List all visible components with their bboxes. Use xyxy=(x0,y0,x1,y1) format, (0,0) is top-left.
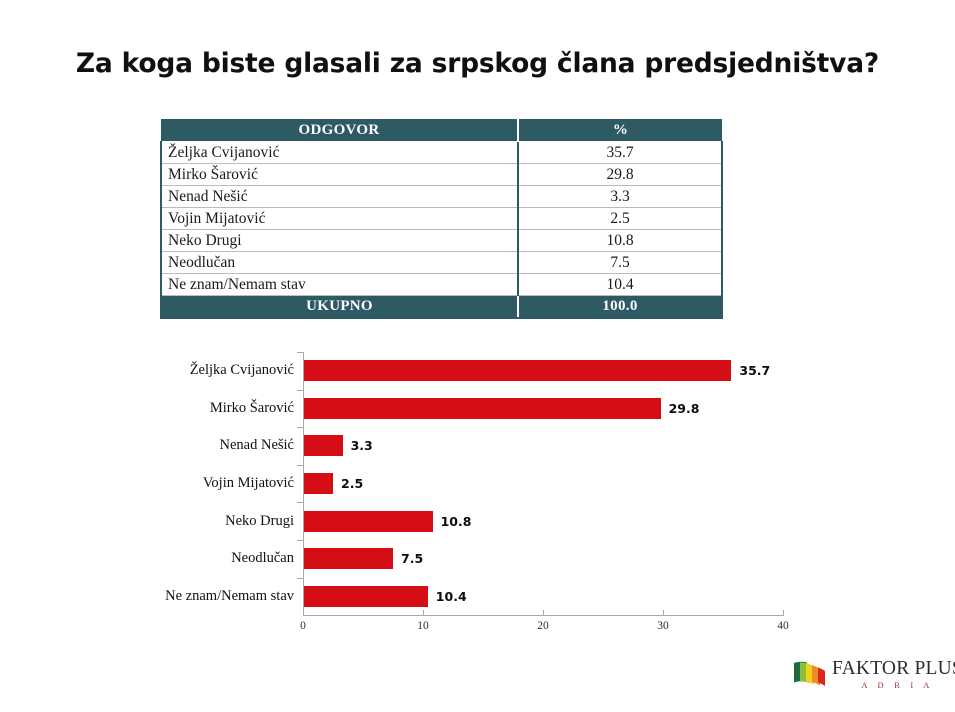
chart-category-label: Nenad Nešić xyxy=(110,437,303,454)
cell-answer: Željka Cvijanović xyxy=(161,142,518,164)
chart-bar-area: 7.5 xyxy=(303,540,810,578)
table-row: Nenad Nešić 3.3 xyxy=(161,186,722,208)
logo-flag-icon xyxy=(792,660,826,686)
y-axis-tick xyxy=(297,390,303,391)
x-axis-tick-label: 30 xyxy=(657,620,669,632)
cell-total-label: UKUPNO xyxy=(161,296,518,319)
chart-category-label: Vojin Mijatović xyxy=(110,475,303,492)
y-axis-tick xyxy=(297,578,303,579)
x-axis-tick xyxy=(423,610,424,616)
table-row: Neko Drugi 10.8 xyxy=(161,230,722,252)
y-axis-tick xyxy=(297,540,303,541)
chart-value-label: 29.8 xyxy=(669,401,700,416)
logo-name: FAKTOR PLUS xyxy=(832,659,955,679)
y-axis-tick xyxy=(297,502,303,503)
x-axis-tick-label: 40 xyxy=(777,620,789,632)
table-row: Mirko Šarović 29.8 xyxy=(161,164,722,186)
table-row: Vojin Mijatović 2.5 xyxy=(161,208,722,230)
chart-row: Ne znam/Nemam stav 10.4 xyxy=(110,578,810,616)
x-axis-tick xyxy=(303,610,304,616)
chart-row: Nenad Nešić 3.3 xyxy=(110,427,810,465)
chart-value-label: 10.8 xyxy=(441,514,472,529)
chart-row: Vojin Mijatović 2.5 xyxy=(110,465,810,503)
chart-bar-area: 10.4 xyxy=(303,578,810,616)
chart-category-label: Željka Cvijanović xyxy=(110,362,303,379)
chart-row: Mirko Šarović 29.8 xyxy=(110,390,810,428)
column-header-answer: ODGOVOR xyxy=(161,119,518,142)
chart-bar-area: 10.8 xyxy=(303,502,810,540)
chart-category-label: Ne znam/Nemam stav xyxy=(110,588,303,605)
y-axis-tick xyxy=(297,465,303,466)
chart-bar-area: 2.5 xyxy=(303,465,810,503)
y-axis-line xyxy=(303,352,304,615)
table-header: ODGOVOR % xyxy=(161,119,722,142)
x-axis-tick-label: 10 xyxy=(417,620,429,632)
chart-row: Neodlučan 7.5 xyxy=(110,540,810,578)
chart-bar-area: 35.7 xyxy=(303,352,810,390)
chart-bar xyxy=(303,511,433,532)
cell-answer: Mirko Šarović xyxy=(161,164,518,186)
column-header-percent: % xyxy=(518,119,722,142)
chart-bar-area: 3.3 xyxy=(303,427,810,465)
table-total-row: UKUPNO 100.0 xyxy=(161,296,722,319)
chart-value-label: 35.7 xyxy=(739,363,770,378)
chart-value-label: 10.4 xyxy=(436,589,467,604)
chart-category-label: Neodlučan xyxy=(110,550,303,567)
x-axis-tick xyxy=(543,610,544,616)
chart-bar xyxy=(303,398,661,419)
table-header-row: ODGOVOR % xyxy=(161,119,722,142)
table-row: Neodlučan 7.5 xyxy=(161,252,722,274)
logo-subtitle: A D R I A xyxy=(832,679,955,691)
table-body: Željka Cvijanović 35.7 Mirko Šarović 29.… xyxy=(161,142,722,319)
logo-text: FAKTOR PLUS A D R I A xyxy=(832,659,955,691)
chart-bar xyxy=(303,435,343,456)
chart-bar xyxy=(303,586,428,607)
chart-bar xyxy=(303,360,731,381)
cell-percent: 2.5 xyxy=(518,208,722,230)
chart-row: Željka Cvijanović 35.7 xyxy=(110,352,810,390)
chart-row: Neko Drugi 10.8 xyxy=(110,502,810,540)
cell-percent: 29.8 xyxy=(518,164,722,186)
chart-value-label: 2.5 xyxy=(341,476,363,491)
bar-chart: Željka Cvijanović 35.7 Mirko Šarović 29.… xyxy=(110,352,810,642)
table-row: Željka Cvijanović 35.7 xyxy=(161,142,722,164)
cell-percent: 3.3 xyxy=(518,186,722,208)
faktor-plus-logo: FAKTOR PLUS A D R I A xyxy=(792,659,947,699)
chart-value-label: 7.5 xyxy=(401,551,423,566)
x-axis-tick xyxy=(663,610,664,616)
cell-total-percent: 100.0 xyxy=(518,296,722,319)
chart-category-label: Mirko Šarović xyxy=(110,400,303,417)
chart-bar xyxy=(303,548,393,569)
results-table: ODGOVOR % Željka Cvijanović 35.7 Mirko Š… xyxy=(160,119,723,319)
x-axis-tick-label: 0 xyxy=(300,620,306,632)
chart-category-label: Neko Drugi xyxy=(110,513,303,530)
page-title: Za koga biste glasali za srpskog člana p… xyxy=(0,48,955,79)
x-axis-tick xyxy=(783,610,784,616)
chart-bar-area: 29.8 xyxy=(303,390,810,428)
y-axis-tick xyxy=(297,427,303,428)
cell-answer: Ne znam/Nemam stav xyxy=(161,274,518,296)
y-axis-tick xyxy=(297,352,303,353)
chart-value-label: 3.3 xyxy=(351,438,373,453)
cell-answer: Neko Drugi xyxy=(161,230,518,252)
table-row: Ne znam/Nemam stav 10.4 xyxy=(161,274,722,296)
chart-bar xyxy=(303,473,333,494)
cell-percent: 35.7 xyxy=(518,142,722,164)
x-axis-tick-label: 20 xyxy=(537,620,549,632)
cell-percent: 10.4 xyxy=(518,274,722,296)
cell-percent: 7.5 xyxy=(518,252,722,274)
cell-answer: Nenad Nešić xyxy=(161,186,518,208)
cell-answer: Vojin Mijatović xyxy=(161,208,518,230)
cell-answer: Neodlučan xyxy=(161,252,518,274)
cell-percent: 10.8 xyxy=(518,230,722,252)
chart-plot-area: Željka Cvijanović 35.7 Mirko Šarović 29.… xyxy=(110,352,810,615)
